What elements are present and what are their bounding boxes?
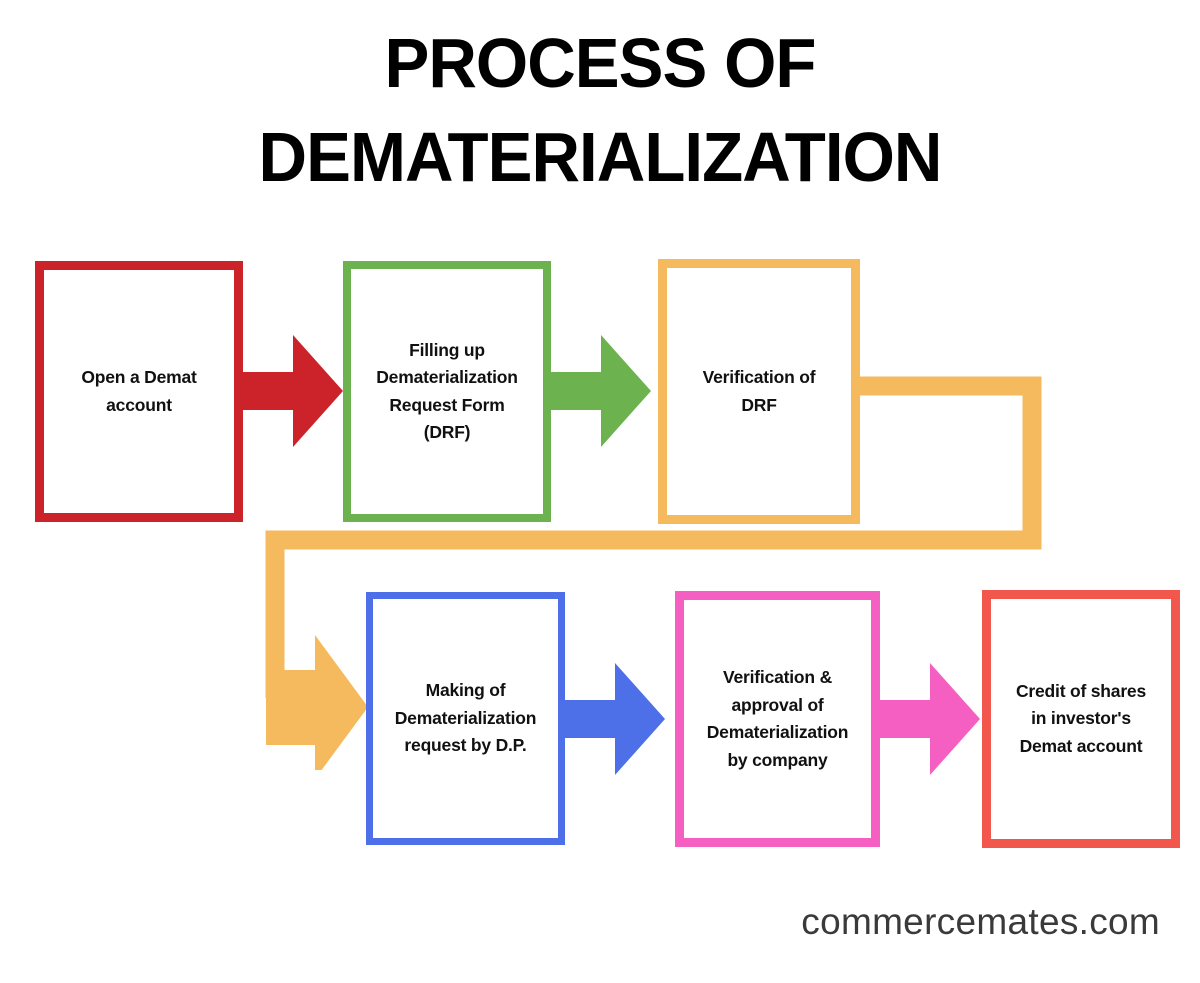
title-line-1: PROCESS OF bbox=[24, 16, 1176, 110]
process-box-label: Making of Dematerialization request by D… bbox=[373, 677, 558, 760]
process-box-label: Filling up Dematerialization Request For… bbox=[351, 337, 543, 447]
page-title: PROCESS OF DEMATERIALIZATION bbox=[0, 16, 1200, 204]
flowchart-canvas: PROCESS OF DEMATERIALIZATION Open a Dema… bbox=[0, 0, 1200, 983]
process-box-making-demat-request[interactable]: Making of Dematerialization request by D… bbox=[366, 592, 565, 845]
process-box-verification-of-drf[interactable]: Verification of DRF bbox=[658, 259, 860, 524]
watermark-site-name: commercemates.com bbox=[801, 900, 1160, 944]
arrow-red-step1-to-step2 bbox=[243, 335, 343, 447]
process-box-open-demat-account[interactable]: Open a Demat account bbox=[35, 261, 243, 522]
arrow-green-step2-to-step3 bbox=[551, 335, 651, 447]
process-box-verification-approval-by-company[interactable]: Verification & approval of Dematerializa… bbox=[675, 591, 880, 847]
process-box-credit-of-shares[interactable]: Credit of shares in investor's Demat acc… bbox=[982, 590, 1180, 848]
process-box-label: Verification & approval of Dematerializa… bbox=[684, 664, 871, 774]
arrow-pink-step5-to-step6 bbox=[880, 663, 980, 775]
process-box-label: Credit of shares in investor's Demat acc… bbox=[991, 678, 1171, 761]
process-box-filling-up-drf[interactable]: Filling up Dematerialization Request For… bbox=[343, 261, 551, 522]
arrow-blue-step4-to-step5 bbox=[565, 663, 665, 775]
process-box-label: Verification of DRF bbox=[667, 364, 851, 419]
title-line-2: DEMATERIALIZATION bbox=[24, 110, 1176, 204]
process-box-label: Open a Demat account bbox=[44, 364, 234, 419]
